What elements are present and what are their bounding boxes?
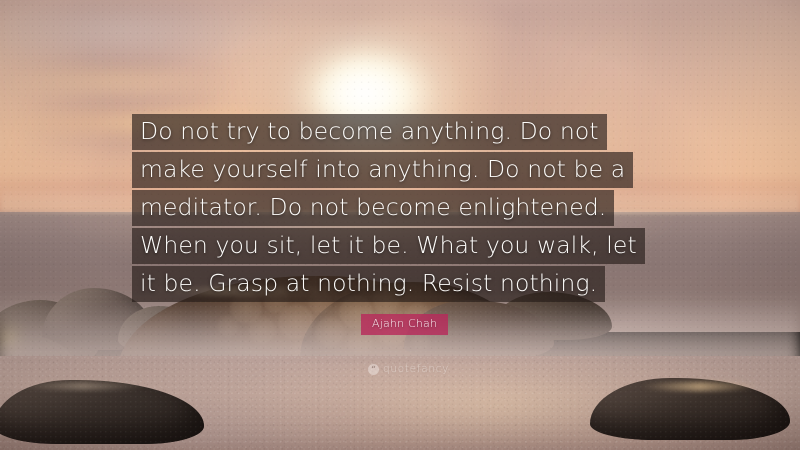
quote-line: meditator. Do not become enlightened.: [132, 190, 614, 226]
quote-line: it be. Grasp at nothing. Resist nothing.: [132, 266, 605, 302]
watermark: “ quotefancy: [368, 363, 449, 375]
quote-line: Do not try to become anything. Do not: [132, 114, 607, 150]
quote-poster: Do not try to become anything. Do notmak…: [0, 0, 800, 450]
author-name: Ajahn Chah: [372, 317, 437, 330]
watermark-label: quotefancy: [383, 363, 449, 375]
author-badge: Ajahn Chah: [361, 314, 448, 335]
quote-text: Do not try to become anything. Do notmak…: [132, 114, 672, 304]
quote-line: make yourself into anything. Do not be a: [132, 152, 633, 188]
quotefancy-logo-icon: “: [368, 364, 379, 375]
quote-line: When you sit, let it be. What you walk, …: [132, 228, 645, 264]
